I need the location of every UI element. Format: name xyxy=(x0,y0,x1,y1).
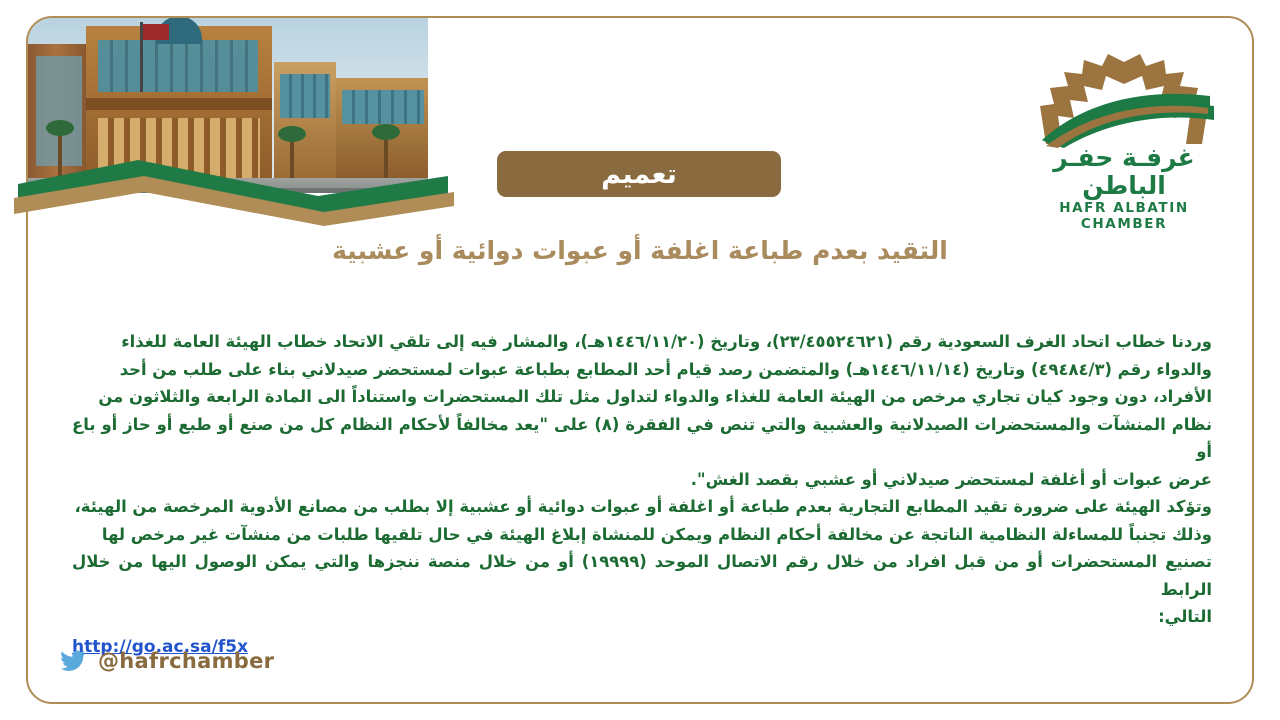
body-line: وردنا خطاب اتحاد الغرف السعودية رقم (٢٣/… xyxy=(72,328,1212,356)
logo-english-name: HAFR ALBATIN CHAMBER xyxy=(1014,200,1234,232)
body-line: نظام المنشآت والمستحضرات الصيدلانية والع… xyxy=(72,411,1212,466)
social-footer: @hafrchamber xyxy=(58,646,274,676)
body-line: وذلك تجنباً للمساءلة النظامية الناتجة عن… xyxy=(72,521,1212,549)
body-line: الأفراد، دون وجود كيان تجاري مرخص من اله… xyxy=(72,383,1212,411)
circular-badge: تعميم xyxy=(497,151,781,197)
body-line: عرض عبوات أو أغلفة لمستحضر صيدلاني أو عش… xyxy=(72,466,1212,494)
photo-canvas xyxy=(28,18,428,193)
document-page: غرفـة حفـر الباطن HAFR ALBATIN CHAMBER ت… xyxy=(0,0,1280,720)
chamber-logo: غرفـة حفـر الباطن HAFR ALBATIN CHAMBER xyxy=(1014,48,1234,198)
page-title: التقيد بعدم طباعة اغلفة أو عبوات دوائية … xyxy=(60,234,1220,268)
twitter-handle[interactable]: @hafrchamber xyxy=(98,649,274,673)
chamber-building-photo xyxy=(28,18,428,193)
body-line: وتؤكد الهيئة على ضرورة تقيد المطابع التج… xyxy=(72,493,1212,521)
body-line: تصنيع المستحضرات أو من قبل افراد من خلال… xyxy=(72,548,1212,603)
logo-arabic-name: غرفـة حفـر الباطن xyxy=(1014,144,1234,199)
twitter-bird-icon[interactable] xyxy=(58,646,88,676)
document-body: وردنا خطاب اتحاد الغرف السعودية رقم (٢٣/… xyxy=(72,328,1212,661)
chamber-crown-logo-icon xyxy=(1024,48,1224,148)
body-line: التالي: xyxy=(72,603,1212,631)
body-line: والدواء رقم (٤٩٤٨٤/٣) وتاريخ (١٤٤٦/١١/١٤… xyxy=(72,356,1212,384)
